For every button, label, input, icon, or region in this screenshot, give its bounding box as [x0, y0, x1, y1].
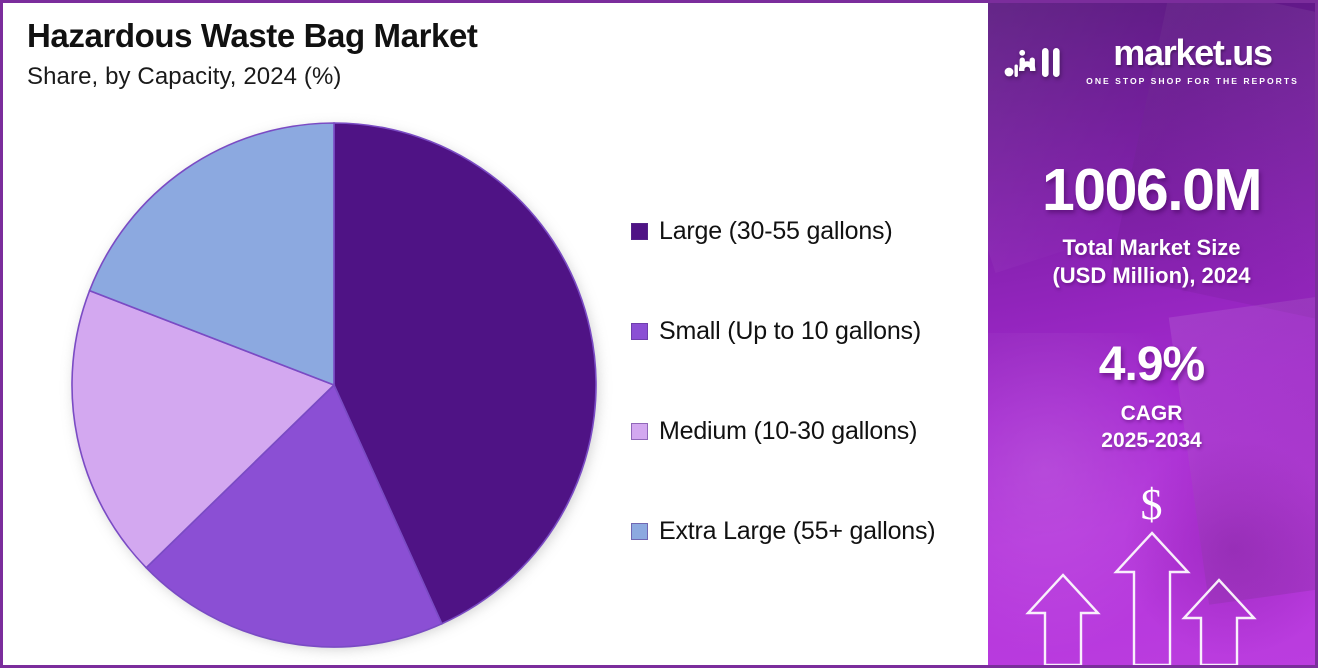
logo-text-block: market.us ONE STOP SHOP FOR THE REPORTS: [1086, 35, 1299, 86]
stat-cagr: 4.9% CAGR 2025-2034: [988, 341, 1315, 455]
legend-swatch-medium-icon: [631, 423, 648, 440]
chart-panel: Hazardous Waste Bag Market Share, by Cap…: [3, 3, 988, 665]
pie-chart: [71, 122, 597, 648]
growth-arrows-graphic: $: [988, 475, 1315, 665]
brand-tagline: ONE STOP SHOP FOR THE REPORTS: [1086, 76, 1299, 86]
market-us-logo-icon: [1004, 41, 1076, 81]
legend-item-extra-large[interactable]: Extra Large (55+ gallons): [631, 481, 981, 581]
legend-item-medium[interactable]: Medium (10-30 gallons): [631, 381, 981, 481]
legend-label-medium: Medium (10-30 gallons): [659, 417, 917, 446]
brand-logo[interactable]: market.us ONE STOP SHOP FOR THE REPORTS: [988, 35, 1315, 86]
market-size-caption-line2: (USD Million), 2024: [988, 262, 1315, 290]
cagr-caption-line2: 2025-2034: [988, 427, 1315, 454]
market-size-caption-line1: Total Market Size: [988, 234, 1315, 262]
pie-slice-group: [72, 123, 596, 647]
brand-wordmark: market.us: [1113, 35, 1271, 71]
pie-chart-svg: [71, 122, 597, 648]
brand-stats-panel: market.us ONE STOP SHOP FOR THE REPORTS …: [988, 3, 1315, 665]
market-size-caption: Total Market Size (USD Million), 2024: [988, 234, 1315, 290]
legend-item-small[interactable]: Small (Up to 10 gallons): [631, 281, 981, 381]
page-title: Hazardous Waste Bag Market: [27, 17, 727, 55]
title-block: Hazardous Waste Bag Market Share, by Cap…: [27, 17, 727, 91]
cagr-value: 4.9%: [988, 341, 1315, 389]
legend-label-large: Large (30-55 gallons): [659, 217, 892, 246]
chart-legend: Large (30-55 gallons) Small (Up to 10 ga…: [631, 181, 981, 581]
legend-swatch-large-icon: [631, 223, 648, 240]
cagr-caption-line1: CAGR: [988, 400, 1315, 427]
legend-label-small: Small (Up to 10 gallons): [659, 317, 921, 346]
legend-item-large[interactable]: Large (30-55 gallons): [631, 181, 981, 281]
page-subtitle: Share, by Capacity, 2024 (%): [27, 63, 727, 91]
cagr-caption: CAGR 2025-2034: [988, 400, 1315, 455]
market-size-value: 1006.0M: [988, 161, 1315, 220]
infographic-root: Hazardous Waste Bag Market Share, by Cap…: [0, 0, 1318, 668]
upward-arrows-icon: [988, 475, 1315, 665]
legend-label-extra-large: Extra Large (55+ gallons): [659, 517, 935, 546]
legend-swatch-small-icon: [631, 323, 648, 340]
legend-swatch-extra-large-icon: [631, 523, 648, 540]
stat-market-size: 1006.0M Total Market Size (USD Million),…: [988, 161, 1315, 290]
